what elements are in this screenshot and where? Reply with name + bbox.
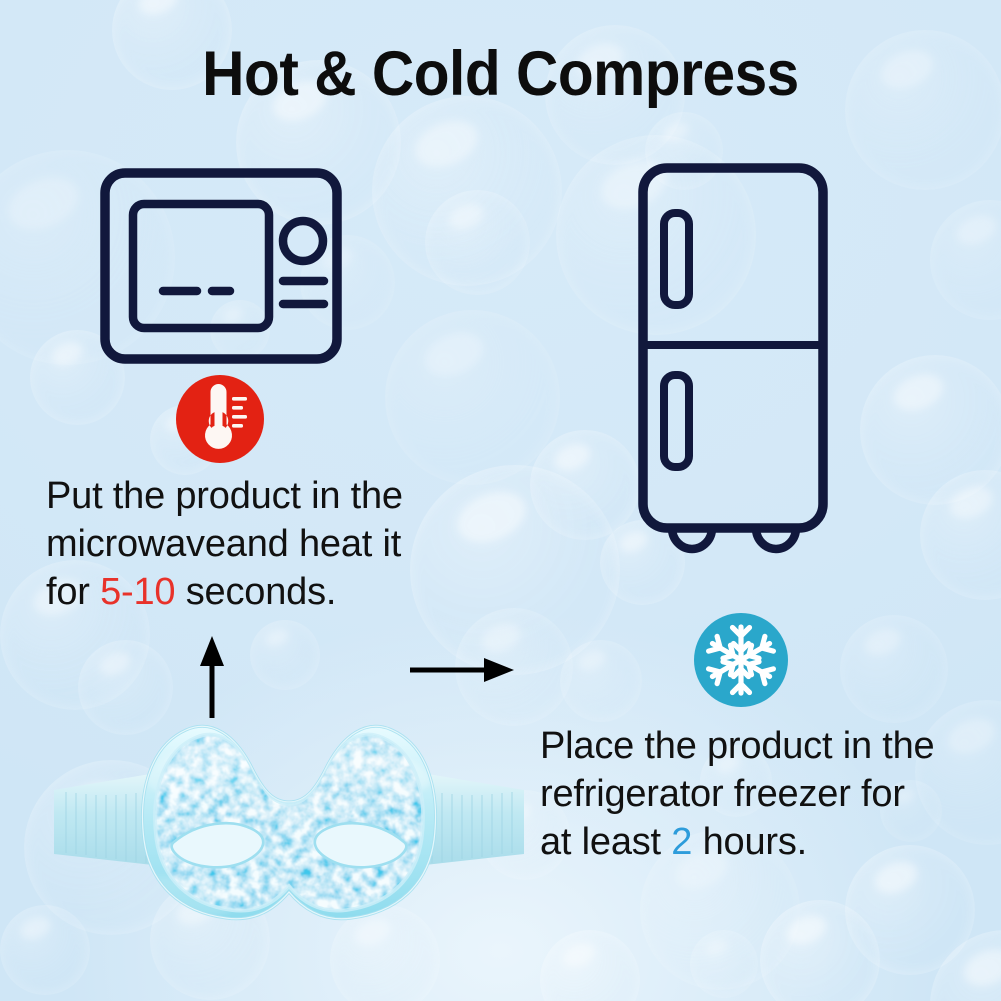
cold-duration-highlight: 2 [671,821,692,863]
refrigerator-icon [638,163,828,578]
cold-text-line-1: Place the product in the [540,722,980,770]
microwave-icon [100,168,342,369]
hot-line3-suffix: seconds. [175,571,336,613]
infographic-page: Hot & Cold Compress [0,0,1001,1001]
cold-text-line-3: at least 2 hours. [540,818,980,866]
hot-text-line-1: Put the product in the [46,472,466,520]
page-title: Hot & Cold Compress [35,38,966,110]
cold-line3-prefix: at least [540,821,671,863]
hot-text-line-3: for 5-10 seconds. [46,568,466,616]
hot-line3-prefix: for [46,571,100,613]
snowflake-badge [694,613,788,707]
hot-text-line-2: microwaveand heat it [46,520,466,568]
hot-duration-highlight: 5-10 [100,571,175,613]
cold-text-line-2: refrigerator freezer for [540,770,980,818]
hot-instruction-text: Put the product in the microwaveand heat… [46,472,466,616]
cold-instruction-text: Place the product in the refrigerator fr… [540,722,980,866]
gel-eye-mask [36,706,542,996]
cold-line3-suffix: hours. [692,821,807,863]
arrow-right-icon [408,648,516,697]
thermometer-badge [176,375,264,463]
